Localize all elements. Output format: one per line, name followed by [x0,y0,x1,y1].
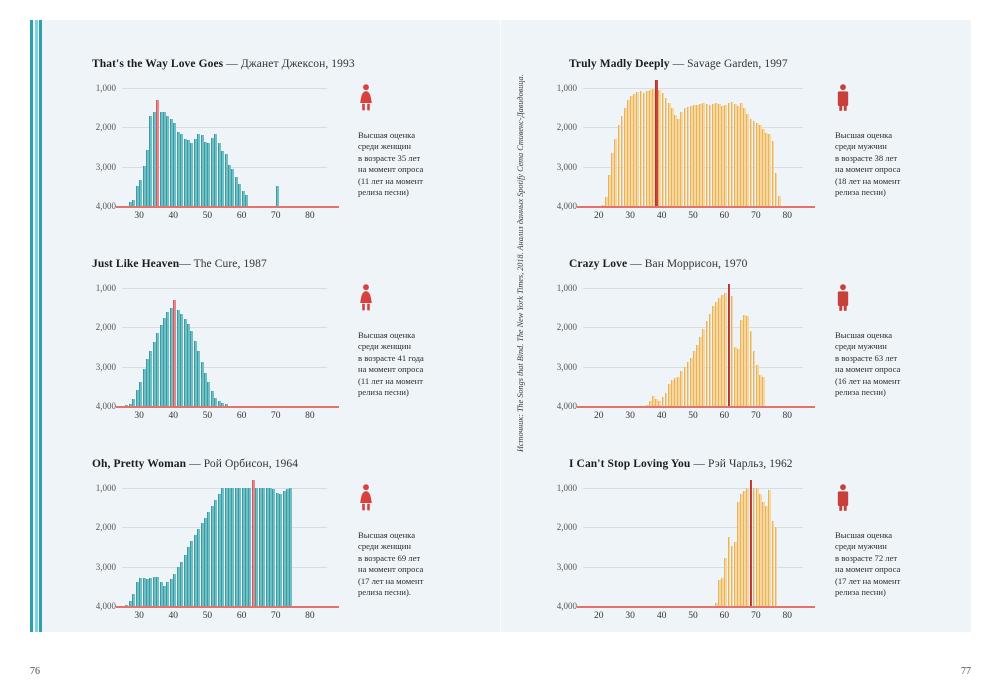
book-spread-page: Источник: The Songs that Bind. The New Y… [0,0,1001,693]
bar [276,186,279,206]
annotation-truly-madly-deeply: Высшая оценка среди мужчин в возрасте 38… [835,84,955,199]
bar [778,196,781,206]
y-axis-tick-label: 4,000 [96,401,116,411]
plot-area-oh-pretty-woman: 1,0002,0003,0004,000304050607080 [122,488,327,606]
y-axis-tick-label: 1,000 [96,283,116,293]
y-axis-tick-label: 4,000 [557,401,577,411]
annotation-text: Высшая оценка среди мужчин в возрасте 38… [835,130,955,199]
plot-area-truly-madly-deeply: 1,0002,0003,0004,00020304050607080 [583,88,803,206]
x-axis-tick-label: 40 [657,611,667,621]
man-icon-svg [835,284,851,314]
x-axis-tick-label: 60 [720,611,730,621]
y-axis-tick-label: 3,000 [557,162,577,172]
man-icon [835,84,955,119]
y-axis-tick-label: 3,000 [557,562,577,572]
folio-left: 76 [30,666,40,677]
bar [775,527,778,606]
annotation-text: Высшая оценка среди женщин в возрасте 69… [358,530,478,599]
annotation-oh-pretty-woman: Высшая оценка среди женщин в возрасте 69… [358,484,478,599]
woman-icon-svg [358,484,374,514]
bar-series [122,262,327,406]
annotation-text: Высшая оценка среди женщин в возрасте 35… [358,130,478,199]
bar-series [583,262,803,406]
y-axis-tick-label: 3,000 [96,362,116,372]
y-axis-tick-label: 2,000 [96,322,116,332]
bar-series [583,462,803,606]
y-axis-tick-label: 1,000 [557,283,577,293]
spread-gutter [500,20,501,632]
y-axis-tick-label: 2,000 [557,322,577,332]
x-axis-tick-label: 50 [688,611,698,621]
y-axis-tick-label: 1,000 [557,483,577,493]
bar [245,195,248,206]
woman-icon [358,84,478,119]
bar-series [122,462,327,606]
folio-right: 77 [961,666,971,677]
woman-icon [358,484,478,519]
y-axis-tick-label: 4,000 [557,201,577,211]
annotation-thats-the-way-love-goes: Высшая оценка среди женщин в возрасте 35… [358,84,478,199]
x-axis-tick-label: 20 [594,611,604,621]
y-axis-tick-label: 2,000 [96,122,116,132]
y-axis-tick-label: 2,000 [557,522,577,532]
woman-icon-svg [358,84,374,114]
accent-rule-inner [39,20,42,632]
y-axis-tick-label: 1,000 [96,83,116,93]
plot-area-i-cant-stop-loving-you: 1,0002,0003,0004,00020304050607080 [583,488,803,606]
chart-panel-crazy-love: Crazy Love — Ван Моррисон, 19701,0002,00… [535,220,955,420]
x-axis-tick-label: 80 [305,611,315,621]
man-icon [835,484,955,519]
annotation-crazy-love: Высшая оценка среди мужчин в возрасте 63… [835,284,955,399]
plot-area-crazy-love: 1,0002,0003,0004,00020304050607080 [583,288,803,406]
accent-rule-middle [35,20,38,632]
y-axis-tick-label: 2,000 [557,122,577,132]
x-axis-tick-label: 30 [134,611,144,621]
x-axis-tick-label: 40 [169,611,179,621]
y-axis-tick-label: 1,000 [96,483,116,493]
x-axis-tick-label: 70 [271,611,281,621]
y-axis-tick-label: 2,000 [96,522,116,532]
chart-panel-truly-madly-deeply: Truly Madly Deeply — Savage Garden, 1997… [535,20,955,220]
plot-area-thats-the-way-love-goes: 1,0002,0003,0004,000304050607080 [122,88,327,206]
plot-area-just-like-heaven: 1,0002,0003,0004,000304050607080 [122,288,327,406]
x-axis-tick-label: 80 [783,611,793,621]
x-axis: 20304050607080 [577,606,815,628]
man-icon-svg [835,484,851,514]
spread-background: Источник: The Songs that Bind. The New Y… [30,20,971,632]
woman-icon [358,284,478,319]
y-axis-tick-label: 4,000 [96,601,116,611]
annotation-just-like-heaven: Высшая оценка среди женщин в возрасте 41… [358,284,478,399]
chart-panel-oh-pretty-woman: Oh, Pretty Woman — Рой Орбисон, 19641,00… [58,420,478,620]
y-axis-tick-label: 3,000 [96,162,116,172]
x-axis-tick-label: 30 [625,611,635,621]
y-axis-tick-label: 3,000 [96,562,116,572]
source-note: Источник: The Songs that Bind. The New Y… [516,92,525,452]
annotation-text: Высшая оценка среди женщин в возрасте 41… [358,330,478,399]
accent-rule-outer [30,20,33,632]
x-axis-tick-label: 50 [203,611,213,621]
man-icon [835,284,955,319]
annotation-i-cant-stop-loving-you: Высшая оценка среди мужчин в возрасте 72… [835,484,955,599]
x-axis-tick-label: 70 [751,611,761,621]
woman-icon-svg [358,284,374,314]
chart-panel-thats-the-way-love-goes: That's the Way Love Goes — Джанет Джексо… [58,20,478,220]
bar-series [583,62,803,206]
chart-panel-just-like-heaven: Just Like Heaven— The Cure, 19871,0002,0… [58,220,478,420]
x-axis-tick-label: 60 [237,611,247,621]
annotation-text: Высшая оценка среди мужчин в возрасте 72… [835,530,955,599]
bar [289,488,292,606]
y-axis-tick-label: 4,000 [557,601,577,611]
y-axis-tick-label: 3,000 [557,362,577,372]
bar-series [122,62,327,206]
y-axis-tick-label: 4,000 [96,201,116,211]
y-axis-tick-label: 1,000 [557,83,577,93]
bar [762,377,765,407]
chart-panel-i-cant-stop-loving-you: I Can't Stop Loving You — Рэй Чарльз, 19… [535,420,955,620]
man-icon-svg [835,84,851,114]
x-axis: 304050607080 [116,606,339,628]
annotation-text: Высшая оценка среди мужчин в возрасте 63… [835,330,955,399]
